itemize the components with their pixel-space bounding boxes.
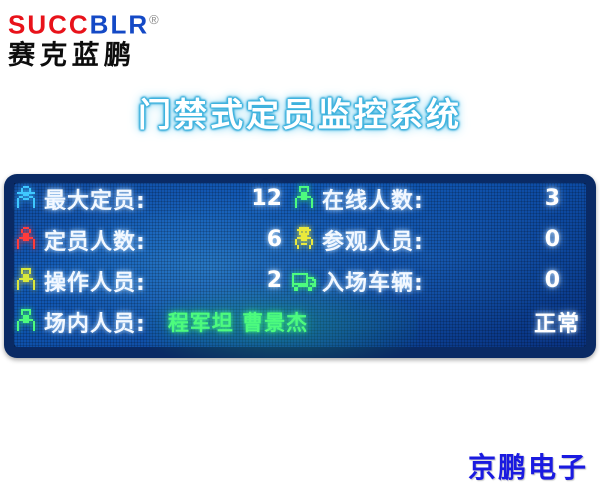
led-field-max-capacity: 最大定员: 12 <box>12 183 290 215</box>
brand-logo: SUCCBLR® 赛克蓝鹏 <box>8 6 159 72</box>
led-field-vehicle-count: 入场车辆: 0 <box>290 265 568 297</box>
led-field-online-count: 在线人数: 3 <box>290 183 568 215</box>
person-icon <box>12 307 40 337</box>
led-row-onsite-personnel: 场内人员: 程军坦 曹景杰 正常 <box>12 301 588 342</box>
led-label: 定员人数: <box>44 224 146 256</box>
led-value: 0 <box>545 227 568 252</box>
person-icon <box>290 184 318 214</box>
status-badge: 正常 <box>534 306 588 338</box>
person-with-cap-icon <box>12 184 40 214</box>
led-row: 最大定员: 12 <box>12 178 588 219</box>
led-label: 在线人数: <box>322 183 424 215</box>
led-label: 入场车辆: <box>322 265 424 297</box>
brand-wordmark-primary: SUCC <box>8 10 90 40</box>
led-field-staff-count: 定员人数: 6 <box>12 224 290 256</box>
led-row: 操作人员: 2 <box>12 260 588 301</box>
led-row: 定员人数: 6 <box>12 219 588 260</box>
brand-wordmark: SUCCBLR® <box>8 6 159 39</box>
led-value: 6 <box>267 227 290 252</box>
brand-wordmark-secondary: BLR <box>90 10 149 40</box>
led-value: 2 <box>267 268 290 293</box>
led-label: 操作人员: <box>44 265 146 297</box>
led-display-panel: 最大定员: 12 <box>4 174 596 358</box>
led-onsite-names: 程军坦 曹景杰 <box>168 307 308 337</box>
footer-company-logo: 京鹏电子 <box>468 446 588 486</box>
led-label: 参观人员: <box>322 224 424 256</box>
led-label: 场内人员: <box>44 306 146 338</box>
registered-trademark-icon: ® <box>149 12 159 27</box>
page-title: 门禁式定员监控系统 <box>0 88 600 136</box>
person-with-cap-icon <box>290 225 318 255</box>
led-value: 12 <box>251 186 290 211</box>
led-label: 最大定员: <box>44 183 146 215</box>
led-value: 3 <box>545 186 568 211</box>
led-field-operator-count: 操作人员: 2 <box>12 265 290 297</box>
led-rows-container: 最大定员: 12 <box>4 174 596 358</box>
led-field-visitor-count: 参观人员: 0 <box>290 224 568 256</box>
truck-icon <box>290 267 318 295</box>
person-icon <box>12 225 40 255</box>
led-value: 0 <box>545 268 568 293</box>
brand-name-chinese: 赛克蓝鹏 <box>7 40 159 72</box>
person-icon <box>12 266 40 296</box>
